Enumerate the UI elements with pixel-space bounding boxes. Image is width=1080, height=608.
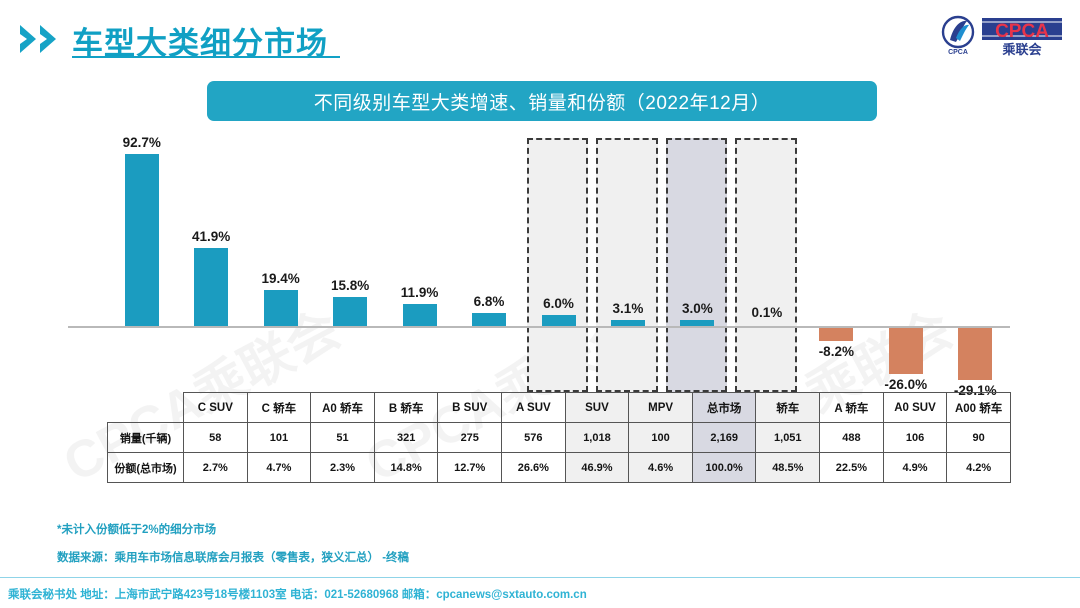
chart-bar: [125, 154, 159, 326]
table-column-header: A0 SUV: [883, 393, 947, 423]
table-row: 份额(总市场)2.7%4.7%2.3%14.8%12.7%26.6%46.9%4…: [108, 453, 1011, 483]
table-cell: 488: [820, 423, 884, 453]
cpca-logo-icon: CPCA CPCA 乘联会: [936, 14, 1066, 58]
table-cell: 48.5%: [756, 453, 820, 483]
table-cell: 46.9%: [565, 453, 629, 483]
svg-text:乘联会: 乘联会: [1001, 42, 1042, 58]
table-cell: 4.9%: [883, 453, 947, 483]
svg-text:CPCA: CPCA: [995, 21, 1049, 42]
footer-report-block: 深度分析报告 14: [860, 568, 1070, 604]
table-row: 销量(千辆)58101513212755761,0181002,1691,051…: [108, 423, 1011, 453]
chart-bar-label: 0.1%: [732, 305, 801, 320]
table-cell: 12.7%: [438, 453, 502, 483]
chart-bar-label: -26.0%: [871, 377, 940, 392]
table-column-header: C SUV: [184, 393, 248, 423]
table-column-header: A00 轿车: [947, 393, 1011, 423]
table-column-header: B SUV: [438, 393, 502, 423]
chart-bar-label: 11.9%: [385, 285, 454, 300]
note-line-2: 数据来源：乘用车市场信息联席会月报表（零售表，狭义汇总） -终稿: [57, 549, 409, 565]
chart-bar: [819, 326, 853, 341]
chart-bar: [264, 290, 298, 326]
chart-highlight-box: [596, 138, 657, 392]
chart-bar-label: -8.2%: [802, 344, 871, 359]
table-cell: 2.3%: [311, 453, 375, 483]
table-cell: 100.0%: [692, 453, 756, 483]
table-column-header: SUV: [565, 393, 629, 423]
chart-highlight-box: [735, 138, 796, 392]
table-column-header: 总市场: [692, 393, 756, 423]
chart-bar-label: 3.1%: [593, 301, 662, 316]
chart-baseline: [68, 326, 1010, 328]
chart-bar: [958, 326, 992, 380]
table-cell: 26.6%: [502, 453, 566, 483]
table-corner-cell: [108, 393, 184, 423]
double-chevron-right-icon: [18, 22, 70, 56]
table-cell: 576: [502, 423, 566, 453]
table-cell: 14.8%: [374, 453, 438, 483]
chart-bar-label: 92.7%: [107, 135, 176, 150]
chart-highlight-box: [527, 138, 588, 392]
table-cell: 58: [184, 423, 248, 453]
table-column-header: A0 轿车: [311, 393, 375, 423]
title-underline: [72, 56, 340, 58]
chart-plot-area: 92.7%41.9%19.4%15.8%11.9%6.8%6.0%3.1%3.0…: [107, 130, 1010, 392]
table-column-header: A SUV: [502, 393, 566, 423]
table-cell: 51: [311, 423, 375, 453]
data-table: C SUVC 轿车A0 轿车B 轿车B SUVA SUVSUVMPV总市场轿车A…: [107, 392, 1011, 483]
table-column-header: 轿车: [756, 393, 820, 423]
note-line-1: *未计入份额低于2%的细分市场: [57, 521, 216, 537]
table-cell: 22.5%: [820, 453, 884, 483]
table-cell: 4.7%: [247, 453, 311, 483]
table-cell: 2,169: [692, 423, 756, 453]
table-header-row: C SUVC 轿车A0 轿车B 轿车B SUVA SUVSUVMPV总市场轿车A…: [108, 393, 1011, 423]
chart-bar: [403, 304, 437, 326]
chart-bar: [194, 248, 228, 326]
table-row-label: 份额(总市场): [108, 453, 184, 483]
chart-bar-label: 3.0%: [663, 301, 732, 316]
chart-title: 不同级别车型大类增速、销量和份额（2022年12月）: [314, 88, 770, 115]
chart-bar: [889, 326, 923, 374]
chart-bar-label: 19.4%: [246, 271, 315, 286]
slide-page: 车型大类细分市场 CPCA CPCA 乘联会 不同级别车型大类增速、销量和份额（…: [0, 0, 1080, 608]
chart-bar: [542, 315, 576, 326]
table-cell: 275: [438, 423, 502, 453]
table-cell: 321: [374, 423, 438, 453]
chart-bar-label: 41.9%: [176, 229, 245, 244]
table-column-header: B 轿车: [374, 393, 438, 423]
chart-title-banner: 不同级别车型大类增速、销量和份额（2022年12月）: [207, 81, 877, 121]
table-column-header: A 轿车: [820, 393, 884, 423]
table-cell: 100: [629, 423, 693, 453]
table-cell: 2.7%: [184, 453, 248, 483]
table-column-header: MPV: [629, 393, 693, 423]
table-cell: 101: [247, 423, 311, 453]
table-cell: 90: [947, 423, 1011, 453]
chart-bar-label: 6.8%: [454, 294, 523, 309]
chart-bar: [333, 297, 367, 326]
footer-contact: 乘联会秘书处 地址：上海市武宁路423号18号楼1103室 电话：021-526…: [8, 586, 587, 602]
table-row-label: 销量(千辆): [108, 423, 184, 453]
table-cell: 1,018: [565, 423, 629, 453]
bar-chart: 92.7%41.9%19.4%15.8%11.9%6.8%6.0%3.1%3.0…: [0, 130, 1080, 392]
svg-text:CPCA: CPCA: [948, 49, 968, 56]
chart-bar: [472, 313, 506, 326]
table-column-header: C 轿车: [247, 393, 311, 423]
chart-bar-label: 15.8%: [315, 278, 384, 293]
table-cell: 4.2%: [947, 453, 1011, 483]
table-cell: 1,051: [756, 423, 820, 453]
table-cell: 106: [883, 423, 947, 453]
table-cell: 4.6%: [629, 453, 693, 483]
chart-bar-label: 6.0%: [524, 296, 593, 311]
chart-highlight-box: [666, 138, 727, 392]
